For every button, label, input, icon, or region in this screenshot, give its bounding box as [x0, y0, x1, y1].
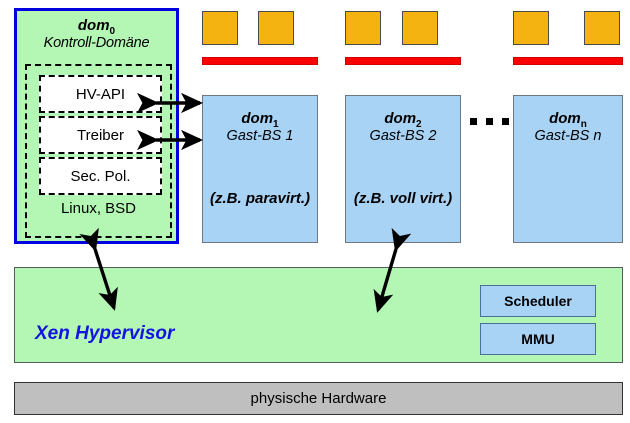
- hypervisor-label: Xen Hypervisor: [35, 323, 174, 345]
- guest-domain-2-title-main: dom: [384, 110, 416, 127]
- control-domain-os-container: HV-API Treiber Sec. Pol. Linux, BSD: [25, 64, 172, 238]
- app-box-2: [258, 11, 294, 45]
- guest-domain-n-title-main: dom: [549, 110, 581, 127]
- guest-domain-2-box[interactable]: dom2 Gast-BS 2 (z.B. voll virt.): [345, 95, 461, 243]
- ellipsis-dot-1: [470, 118, 477, 125]
- separator-bar-3: [513, 57, 623, 65]
- app-box-5: [513, 11, 549, 45]
- guest-domain-n-subtitle: Gast-BS n: [514, 128, 622, 145]
- hypervisor-module-scheduler[interactable]: Scheduler: [480, 285, 596, 317]
- app-box-1: [202, 11, 238, 45]
- guest-domain-n-box[interactable]: domn Gast-BS n: [513, 95, 623, 243]
- guest-domain-1-note: (z.B. paravirt.): [207, 189, 313, 208]
- separator-bar-2: [345, 57, 461, 65]
- diagram-canvas: dom0 Kontroll-Domäne HV-API Treiber Sec.…: [0, 0, 630, 423]
- guest-domain-1-title-main: dom: [241, 110, 273, 127]
- component-sec-pol[interactable]: Sec. Pol.: [39, 157, 162, 195]
- component-hv-api[interactable]: HV-API: [39, 75, 162, 113]
- control-domain-subtitle: Kontroll-Domäne: [17, 35, 176, 52]
- ellipsis-dot-2: [486, 118, 493, 125]
- component-treiber[interactable]: Treiber: [39, 116, 162, 154]
- control-domain-os-label: Linux, BSD: [27, 200, 170, 217]
- guest-domain-1-subtitle: Gast-BS 1: [203, 128, 317, 145]
- app-box-6: [584, 11, 620, 45]
- guest-domain-2-note: (z.B. voll virt.): [350, 189, 456, 208]
- hardware-box: physische Hardware: [14, 382, 623, 415]
- app-box-4: [402, 11, 438, 45]
- control-domain-box[interactable]: dom0 Kontroll-Domäne HV-API Treiber Sec.…: [14, 8, 179, 244]
- hypervisor-module-mmu[interactable]: MMU: [480, 323, 596, 355]
- guest-domain-2-subtitle: Gast-BS 2: [346, 128, 460, 145]
- ellipsis-dots: [470, 118, 509, 125]
- guest-domain-1-box[interactable]: dom1 Gast-BS 1 (z.B. paravirt.): [202, 95, 318, 243]
- separator-bar-1: [202, 57, 318, 65]
- control-domain-title-main: dom: [78, 17, 110, 34]
- app-box-3: [345, 11, 381, 45]
- ellipsis-dot-3: [502, 118, 509, 125]
